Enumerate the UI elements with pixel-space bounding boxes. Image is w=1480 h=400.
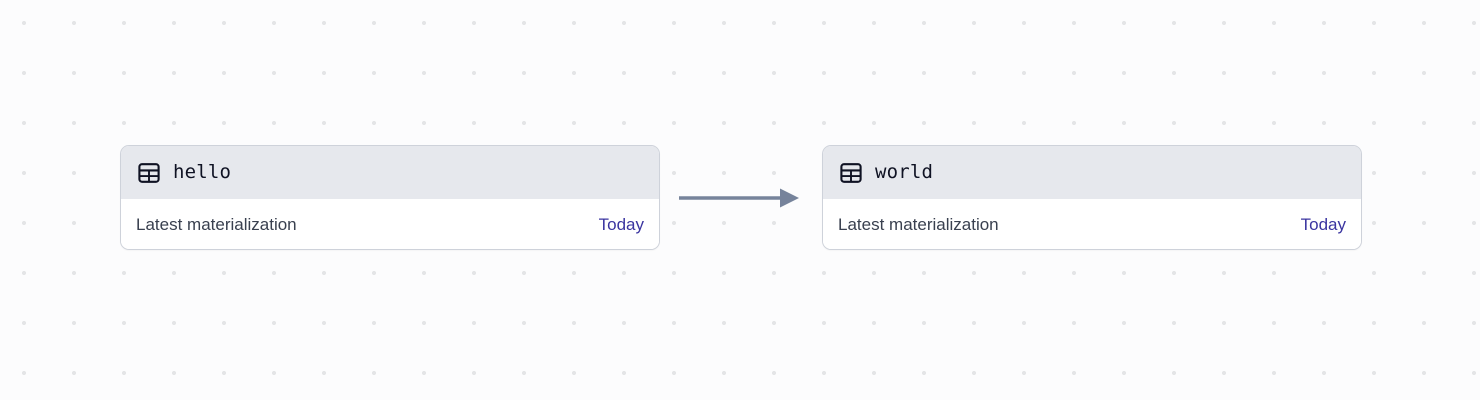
asset-node-title: hello: [173, 163, 231, 182]
asset-node-header[interactable]: world: [823, 146, 1361, 199]
asset-node-body: Latest materialization Today: [823, 199, 1361, 249]
asset-node-header[interactable]: hello: [121, 146, 659, 199]
latest-materialization-value[interactable]: Today: [599, 216, 644, 233]
latest-materialization-value[interactable]: Today: [1301, 216, 1346, 233]
latest-materialization-label: Latest materialization: [838, 216, 999, 233]
table-icon: [839, 161, 863, 185]
edge-hello-to-world[interactable]: [668, 180, 808, 216]
table-icon: [137, 161, 161, 185]
asset-node-title: world: [875, 163, 933, 182]
asset-node-world[interactable]: world Latest materialization Today: [822, 145, 1362, 250]
asset-node-body: Latest materialization Today: [121, 199, 659, 249]
asset-node-hello[interactable]: hello Latest materialization Today: [120, 145, 660, 250]
asset-graph-canvas[interactable]: hello Latest materialization Today world: [0, 0, 1480, 400]
latest-materialization-label: Latest materialization: [136, 216, 297, 233]
